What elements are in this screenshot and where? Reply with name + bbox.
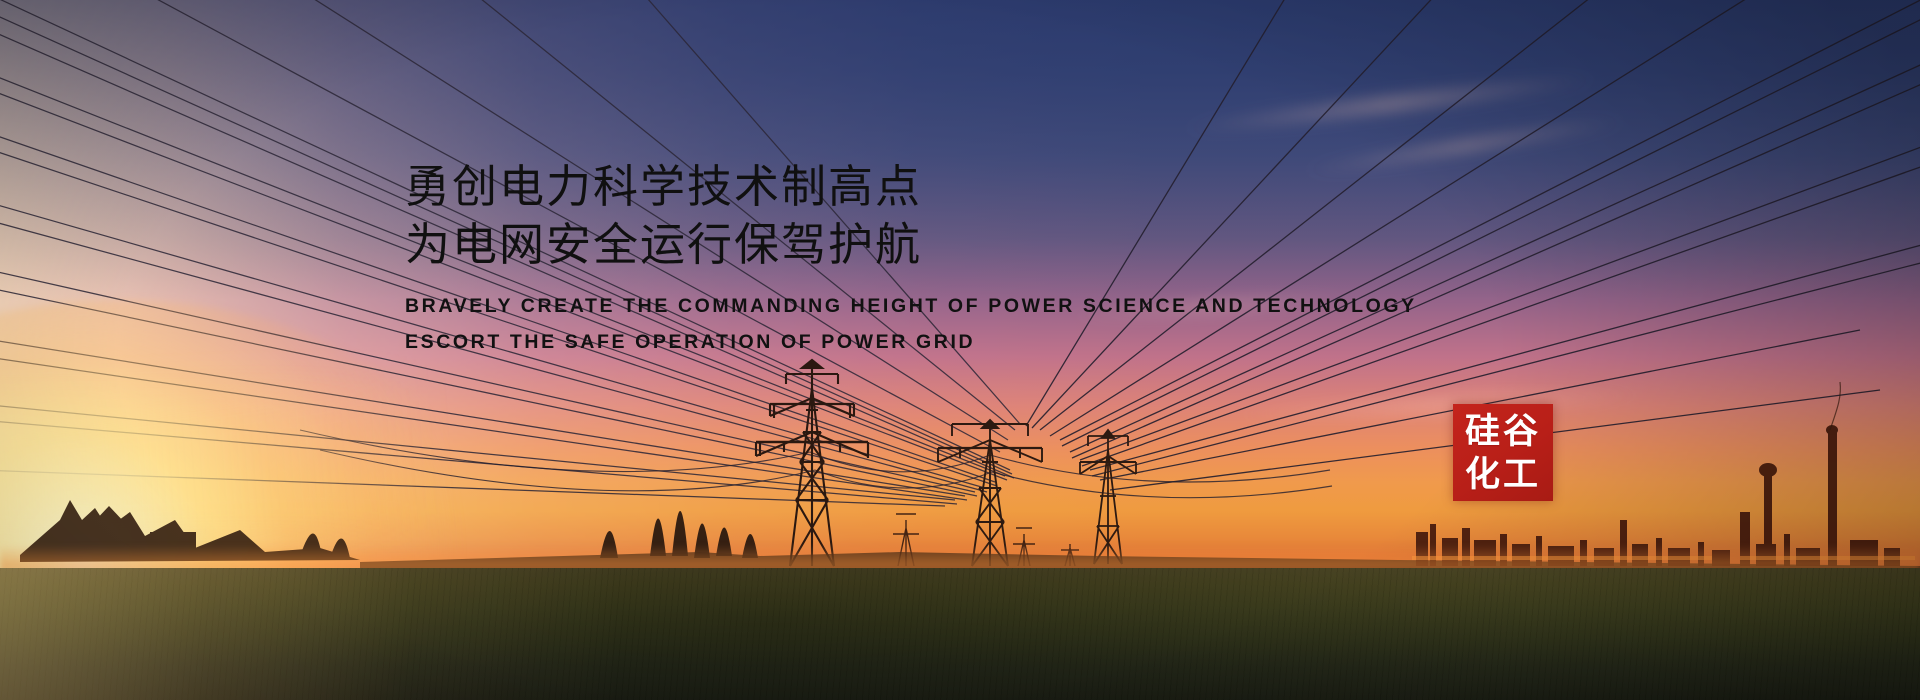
hero-banner: 勇创电力科学技术制高点 为电网安全运行保驾护航 BRAVELY CREATE T… — [0, 0, 1920, 700]
transmission-tower-main — [756, 360, 868, 566]
headline-line-2: 为电网安全运行保驾护航 — [405, 216, 1455, 274]
logo-text-row-2: 化工 — [1465, 453, 1541, 496]
headline-line-1: 勇创电力科学技术制高点 — [405, 158, 1455, 216]
banner-copy: 勇创电力科学技术制高点 为电网安全运行保驾护航 BRAVELY CREATE T… — [405, 158, 1455, 360]
company-logo-stamp[interactable]: 硅谷 化工 — [1453, 404, 1553, 501]
subtitle-line-2: ESCORT THE SAFE OPERATION OF POWER GRID — [405, 324, 1455, 360]
transmission-tower-3 — [1080, 430, 1136, 564]
subtitle-line-1: BRAVELY CREATE THE COMMANDING HEIGHT OF … — [405, 288, 1455, 324]
field-sunlight — [0, 568, 620, 700]
logo-text-row-1: 硅谷 — [1465, 410, 1541, 453]
